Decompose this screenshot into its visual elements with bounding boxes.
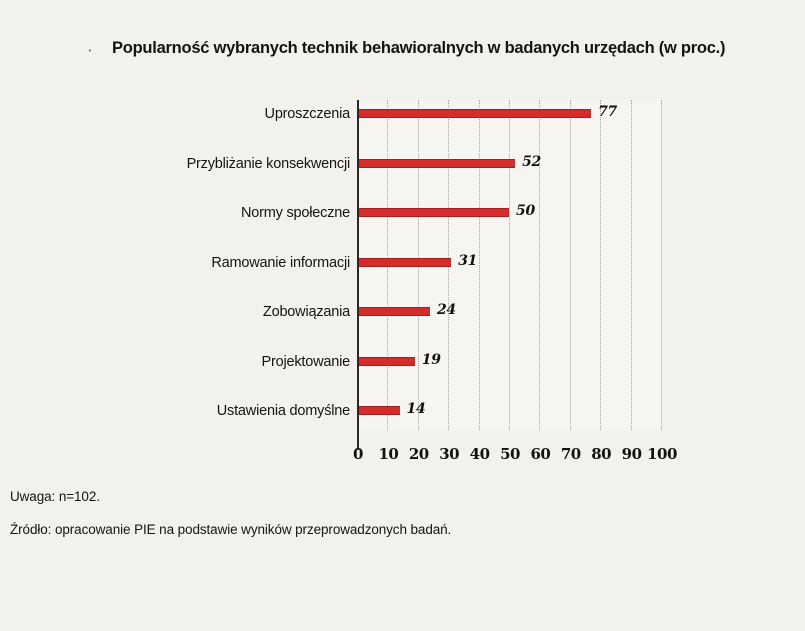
category-label: Ramowanie informacji <box>211 254 350 272</box>
category-label: Ustawienia domyślne <box>217 402 350 420</box>
category-label: Przybliżanie konsekwencji <box>187 155 350 173</box>
bar-value-label: 31 <box>458 252 477 270</box>
chart-page: · Popularność wybranych technik behawior… <box>0 0 805 631</box>
gridline <box>570 100 571 430</box>
gridline <box>661 100 662 430</box>
x-axis-tick-label: 80 <box>591 445 611 463</box>
note-source: Źródło: opracowanie PIE na podstawie wyn… <box>10 521 451 538</box>
bar[interactable] <box>357 109 591 118</box>
gridline <box>509 100 510 430</box>
x-axis-tick-label: 90 <box>622 445 642 463</box>
bar-value-label: 77 <box>598 103 617 121</box>
bar-value-label: 50 <box>516 202 535 220</box>
category-label: Zobowiązania <box>263 303 350 321</box>
page-title: Popularność wybranych technik behawioral… <box>112 38 725 58</box>
x-axis-tick-label: 60 <box>530 445 550 463</box>
bar[interactable] <box>357 208 509 217</box>
bar[interactable] <box>357 258 451 267</box>
category-label: Projektowanie <box>262 353 350 371</box>
x-axis-tick-label: 40 <box>470 445 490 463</box>
x-axis-tick-label: 30 <box>439 445 459 463</box>
note-sample-size: Uwaga: n=102. <box>10 488 100 505</box>
y-axis-line <box>357 100 359 438</box>
bar-value-label: 52 <box>522 153 541 171</box>
x-axis-tick-label: 50 <box>500 445 520 463</box>
x-axis-tick-label: 0 <box>353 445 363 463</box>
category-label: Uproszczenia <box>265 105 350 123</box>
gridline <box>479 100 480 430</box>
chart-title-row: · Popularność wybranych technik behawior… <box>88 32 788 58</box>
x-axis-tick-label: 20 <box>409 445 429 463</box>
bar[interactable] <box>357 159 515 168</box>
bar[interactable] <box>357 357 415 366</box>
bar[interactable] <box>357 307 430 316</box>
category-label: Normy społeczne <box>241 204 350 222</box>
title-bullet-icon: · <box>88 44 98 58</box>
bar-value-label: 24 <box>437 301 456 319</box>
plot-area: 77525031241914 <box>357 100 661 430</box>
gridline <box>631 100 632 430</box>
bar[interactable] <box>357 406 400 415</box>
x-axis-tick-label: 70 <box>561 445 581 463</box>
x-axis-tick-label: 10 <box>378 445 398 463</box>
bar-value-label: 14 <box>407 400 426 418</box>
gridline <box>600 100 601 430</box>
x-axis-tick-label: 100 <box>647 445 677 463</box>
gridline <box>539 100 540 430</box>
bar-value-label: 19 <box>422 351 441 369</box>
